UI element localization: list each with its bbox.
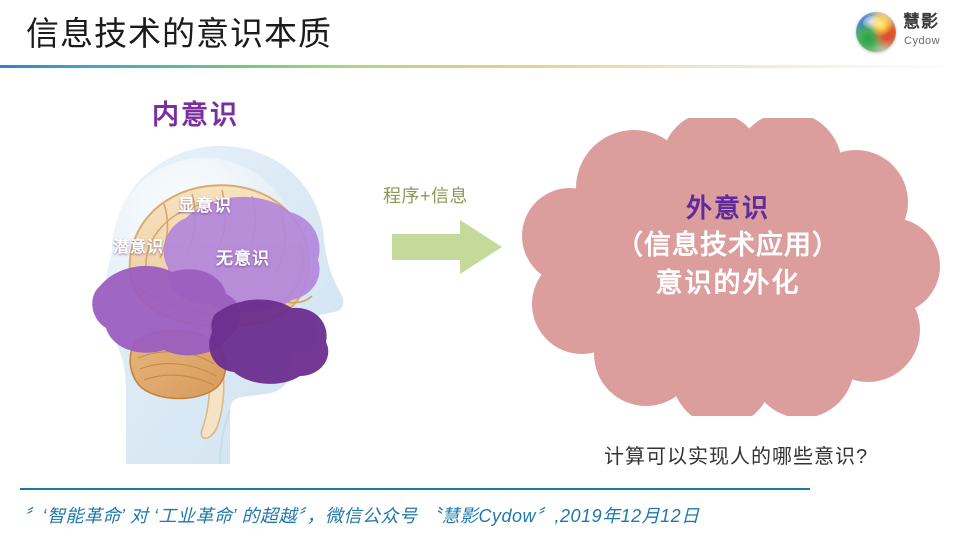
blob-label-unconscious: 无意识 <box>216 244 270 269</box>
footer-citation: 〞‘智能革命’ 对 ‘工业革命’ 的超越〞，微信公众号 〝慧影Cydow〞,20… <box>24 502 700 528</box>
cloud-text-block: 外意识 （信息技术应用） 意识的外化 <box>516 190 940 302</box>
footer-divider <box>20 488 810 490</box>
brand-logo: 慧影 Cydow <box>856 10 952 56</box>
cloud-subtitle-externalization: 意识的外化 <box>516 264 940 302</box>
slide-canvas: 信息技术的意识本质 慧影 Cydow 内意识 <box>0 0 960 540</box>
page-title: 信息技术的意识本质 <box>26 12 332 56</box>
human-head-brain-illustration <box>74 126 360 466</box>
blob-label-subconscious: 潜意识 <box>113 233 164 257</box>
blob-label-conscious: 显意识 <box>178 191 232 216</box>
cloud-heading-outer-consciousness: 外意识 <box>516 190 940 226</box>
question-text: 计算可以实现人的哪些意识? <box>604 440 868 469</box>
right-arrow-icon <box>392 220 502 274</box>
arrow-caption: 程序+信息 <box>383 182 468 208</box>
rainbow-sphere-icon <box>856 12 896 52</box>
logo-english-name: Cydow <box>904 34 940 48</box>
header-gradient-divider <box>0 65 960 68</box>
logo-chinese-name: 慧影 <box>903 12 939 32</box>
cloud-subtitle-it-application: （信息技术应用） <box>516 226 940 264</box>
